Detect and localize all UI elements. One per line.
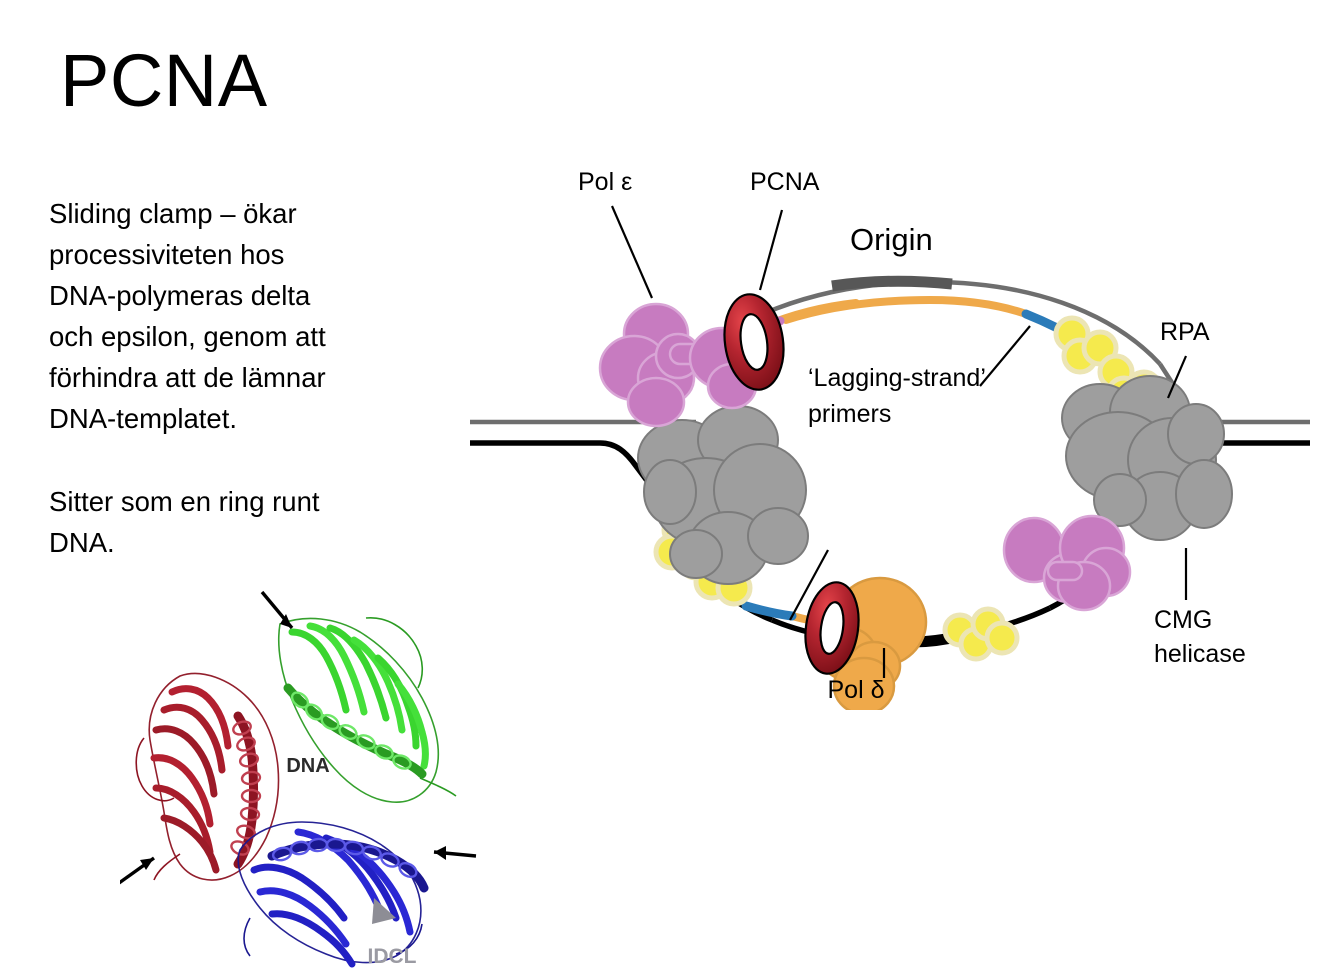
body-paragraph-2: Sitter som en ring runt DNA. — [49, 481, 349, 563]
interface-arrow-top — [262, 592, 292, 628]
lagging-primers-label-line2: primers — [808, 400, 891, 428]
structure-center-label: DNA — [286, 755, 329, 777]
lagging-primers-leader-top — [980, 326, 1030, 386]
slide-body-text: Sliding clamp – ökar processiviteten hos… — [49, 193, 349, 563]
cmg-helicase-label-line2: helicase — [1154, 640, 1246, 668]
pcna-subunit-blue — [238, 822, 424, 964]
pcna-leader — [760, 210, 782, 290]
pol-delta-label: Pol δ — [828, 676, 885, 704]
replication-bubble-diagram: Pol ε PCNA Origin RPA ‘Lagging-strand’ p… — [460, 150, 1320, 710]
rpa-label: RPA — [1160, 318, 1210, 346]
lagging-primer-bottom — [746, 606, 792, 616]
page-title: PCNA — [60, 44, 268, 118]
pcna-label: PCNA — [750, 168, 820, 196]
top-nascent-strand — [740, 300, 1082, 342]
cmg-helicase-label-line1: CMG — [1154, 606, 1212, 634]
rpa-beads-bottom-right — [945, 609, 1017, 659]
pol-epsilon-leader — [612, 206, 652, 298]
interface-arrow-left — [120, 858, 154, 888]
lagging-primers-label-line1: ‘Lagging-strand’ — [808, 364, 986, 392]
pcna-crystal-structure-image: DNA IDCL — [120, 588, 500, 978]
idcl-label: IDCL — [368, 945, 417, 968]
interface-arrow-right — [434, 846, 476, 860]
body-paragraph-1: Sliding clamp – ökar processiviteten hos… — [49, 193, 349, 439]
pol-epsilon-complex-right — [1004, 516, 1130, 610]
origin-segment — [832, 281, 952, 286]
pcna-subunit-red — [136, 673, 278, 880]
origin-label: Origin — [850, 222, 933, 257]
pol-epsilon-label: Pol ε — [578, 168, 632, 196]
